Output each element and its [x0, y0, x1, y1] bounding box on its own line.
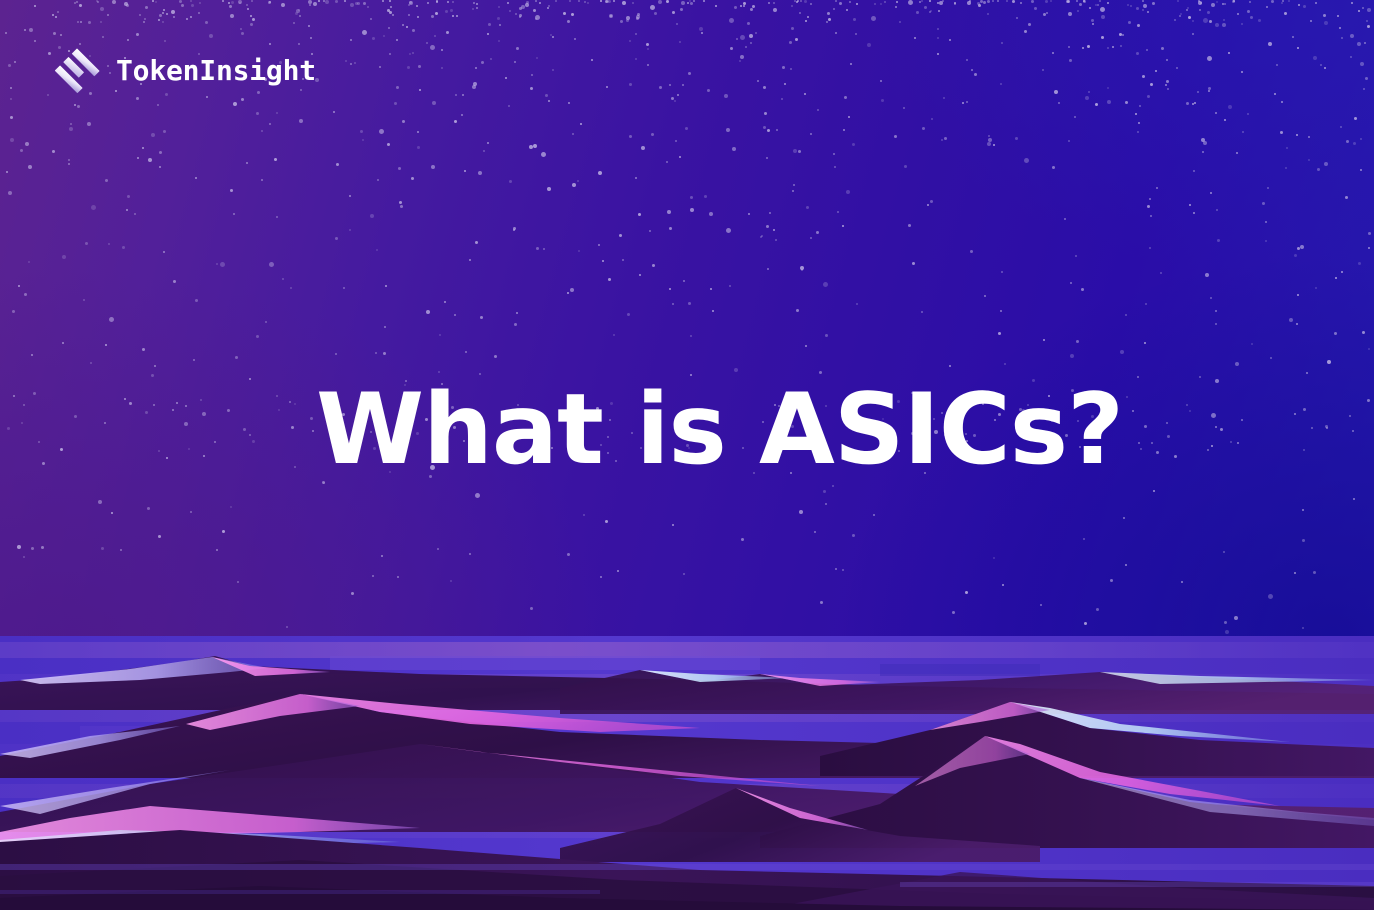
star-dot: [908, 224, 911, 227]
star-dot: [1167, 88, 1169, 90]
star-dot: [454, 314, 456, 316]
star-dot: [769, 212, 771, 214]
star-dot: [1150, 215, 1152, 217]
star-dot: [1084, 622, 1087, 625]
star-dot: [773, 2, 775, 4]
star-dot: [828, 18, 831, 21]
star-dot: [682, 84, 684, 86]
star-dot: [439, 334, 441, 336]
star-dot: [1096, 608, 1099, 611]
star-dot: [31, 354, 33, 356]
star-dot: [1099, 0, 1101, 2]
star-dot: [227, 409, 230, 412]
star-dot: [804, 93, 806, 95]
star-dot: [24, 29, 26, 31]
star-dot: [763, 126, 766, 129]
star-dot: [455, 94, 457, 96]
star-dot: [987, 13, 989, 15]
star-dot: [144, 18, 146, 20]
star-dot: [478, 171, 482, 175]
star-dot: [163, 9, 165, 11]
star-dot: [104, 422, 106, 424]
star-dot: [216, 263, 218, 265]
star-dot: [274, 158, 277, 161]
star-dot: [792, 190, 794, 192]
star-dot: [672, 524, 674, 526]
star-dot: [172, 409, 174, 411]
star-dot: [214, 441, 216, 443]
star-dot: [1281, 2, 1283, 4]
star-dot: [48, 52, 51, 55]
star-dot: [814, 531, 816, 533]
star-dot: [1350, 56, 1352, 58]
star-dot: [629, 83, 632, 86]
star-dot: [432, 101, 436, 105]
star-dot: [315, 78, 319, 82]
star-dot: [584, 1, 586, 3]
star-dot: [370, 214, 374, 218]
star-dot: [343, 287, 345, 289]
star-dot: [570, 288, 574, 292]
star-dot: [390, 6, 392, 8]
star-dot: [598, 244, 600, 246]
star-dot: [372, 37, 375, 40]
star-dot: [476, 7, 478, 9]
star-dot: [1228, 105, 1232, 109]
star-dot: [1235, 362, 1239, 366]
star-dot: [142, 147, 144, 149]
star-dot: [456, 15, 458, 17]
star-dot: [88, 21, 91, 24]
star-dot: [426, 310, 430, 314]
star-dot: [1289, 318, 1293, 322]
star-dot: [186, 18, 188, 20]
star-dot: [916, 11, 919, 14]
star-dot: [1142, 75, 1145, 78]
star-dot: [1066, 0, 1069, 3]
star-dot: [437, 548, 439, 550]
star-dot: [136, 97, 139, 100]
star-dot: [1215, 23, 1219, 27]
star-dot: [1247, 10, 1250, 13]
star-dot: [1302, 509, 1304, 511]
star-dot: [276, 216, 278, 218]
star-dot: [1107, 87, 1109, 89]
star-dot: [699, 27, 703, 31]
star-dot: [367, 6, 369, 8]
star-dot: [1050, 0, 1052, 2]
star-dot: [965, 591, 968, 594]
star-dot: [148, 158, 152, 162]
star-dot: [1303, 5, 1306, 8]
star-dot: [535, 15, 540, 20]
star-dot: [497, 17, 500, 20]
cover-image: TokenInsight What is ASICs?: [0, 0, 1374, 910]
star-dot: [531, 74, 533, 76]
star-dot: [1136, 7, 1139, 10]
star-dot: [767, 268, 769, 270]
star-dot: [750, 42, 752, 44]
star-dot: [1210, 192, 1212, 194]
star-dot: [1198, 1, 1202, 5]
star-dot: [1077, 10, 1079, 12]
star-dot: [810, 237, 812, 239]
star-dot: [629, 135, 632, 138]
star-dot: [1165, 84, 1167, 86]
star-dot: [826, 21, 828, 23]
star-dot: [53, 32, 56, 35]
star-dot: [791, 5, 793, 7]
star-dot: [235, 356, 238, 359]
star-dot: [20, 149, 23, 152]
star-dot: [798, 150, 801, 153]
star-dot: [647, 64, 649, 66]
star-dot: [1303, 408, 1306, 411]
star-dot: [1211, 413, 1216, 418]
star-dot: [1000, 83, 1002, 85]
star-dot: [1180, 13, 1182, 15]
star-dot: [515, 13, 517, 15]
star-dot: [153, 404, 155, 406]
star-dot: [1068, 46, 1070, 48]
star-dot: [1199, 9, 1201, 11]
star-dot: [185, 405, 187, 407]
star-dot: [250, 23, 253, 26]
star-dot: [639, 274, 641, 276]
star-dot: [269, 123, 271, 125]
star-dot: [1234, 616, 1238, 620]
star-dot: [83, 299, 85, 301]
star-dot: [396, 39, 398, 41]
star-dot: [871, 16, 876, 21]
star-dot: [1189, 410, 1191, 412]
star-dot: [666, 0, 669, 3]
star-dot: [804, 0, 807, 3]
star-dot: [1000, 310, 1002, 312]
star-dot: [1266, 6, 1268, 8]
star-dot: [1001, 271, 1003, 273]
star-dot: [1241, 419, 1243, 421]
star-dot: [679, 156, 681, 158]
star-dot: [1228, 52, 1230, 54]
star-dot: [1362, 7, 1364, 9]
star-dot: [112, 0, 116, 4]
star-dot: [396, 86, 399, 89]
star-dot: [383, 352, 386, 355]
star-dot: [1222, 3, 1224, 5]
star-dot: [389, 0, 391, 2]
star-dot: [569, 0, 571, 2]
star-dot: [68, 159, 70, 161]
star-dot: [791, 27, 794, 30]
star-dot: [1349, 415, 1351, 417]
star-dot: [345, 60, 347, 62]
star-dot: [10, 116, 13, 119]
star-dot: [1306, 372, 1308, 374]
star-dot: [508, 105, 510, 107]
star-dot: [1276, 64, 1278, 66]
star-dot: [419, 89, 421, 91]
star-dot: [927, 204, 929, 206]
star-dot: [839, 2, 842, 5]
star-dot: [454, 120, 457, 123]
star-dot: [736, 38, 738, 40]
star-dot: [1241, 23, 1243, 25]
star-dot: [1100, 7, 1105, 12]
star-dot: [651, 133, 654, 136]
star-dot: [984, 295, 986, 297]
star-dot: [908, 0, 913, 5]
star-dot: [447, 1, 449, 3]
star-dot: [941, 139, 943, 141]
star-dot: [462, 94, 464, 96]
star-dot: [195, 299, 198, 302]
star-dot: [1142, 9, 1144, 11]
star-dot: [166, 13, 168, 15]
star-dot: [683, 573, 685, 575]
star-dot: [325, 0, 329, 4]
star-dot: [1052, 166, 1055, 169]
star-dot: [100, 7, 104, 11]
star-dot: [1308, 159, 1310, 161]
star-dot: [635, 177, 637, 179]
star-dot: [469, 553, 471, 555]
star-dot: [464, 170, 466, 172]
star-dot: [298, 43, 300, 45]
star-dot: [278, 409, 280, 411]
star-dot: [354, 62, 356, 64]
star-dot: [349, 229, 351, 231]
star-dot: [1297, 247, 1300, 250]
star-dot: [602, 260, 604, 262]
star-dot: [452, 1, 454, 3]
star-dot: [1247, 113, 1249, 115]
star-dot: [677, 94, 679, 96]
star-dot: [823, 490, 826, 493]
star-dot: [1127, 4, 1129, 6]
star-dot: [896, 1, 898, 3]
star-dot: [57, 11, 59, 13]
star-dot: [667, 210, 671, 214]
star-dot: [229, 5, 232, 8]
star-dot: [222, 0, 224, 2]
star-dot: [162, 12, 164, 14]
star-dot: [880, 80, 882, 82]
star-dot: [377, 179, 379, 181]
star-dot: [600, 0, 602, 2]
star-dot: [675, 140, 677, 142]
star-dot: [90, 362, 92, 364]
star-dot: [514, 61, 516, 63]
star-dot: [881, 99, 884, 102]
star-dot: [109, 317, 114, 322]
star-dot: [843, 129, 845, 131]
star-dot: [1012, 0, 1015, 3]
star-dot: [430, 45, 435, 50]
star-dot: [1058, 102, 1060, 104]
star-dot: [1160, 272, 1162, 274]
star-dot: [1147, 11, 1149, 13]
star-dot: [80, 21, 82, 23]
star-dot: [929, 0, 931, 2]
star-dot: [608, 278, 611, 281]
star-dot: [1315, 287, 1317, 289]
star-dot: [7, 427, 10, 430]
star-dot: [724, 94, 728, 98]
star-dot: [42, 462, 45, 465]
star-dot: [1315, 2, 1317, 4]
star-dot: [583, 514, 585, 516]
star-dot: [709, 212, 713, 216]
star-dot: [394, 102, 397, 105]
star-dot: [1215, 379, 1219, 383]
star-dot: [748, 213, 750, 215]
star-dot: [613, 0, 615, 2]
star-dot: [1341, 271, 1343, 273]
star-dot: [715, 5, 717, 7]
star-dot: [591, 59, 593, 61]
star-dot: [412, 29, 415, 32]
star-dot: [1101, 15, 1105, 19]
star-dot: [1082, 47, 1084, 49]
star-dot: [188, 448, 190, 450]
star-dot: [34, 5, 36, 7]
star-dot: [767, 129, 770, 132]
star-dot: [195, 177, 197, 179]
star-dot: [190, 0, 192, 2]
star-dot: [1286, 147, 1288, 149]
star-dot: [294, 466, 296, 468]
star-dot: [143, 21, 145, 23]
star-dot: [417, 131, 419, 133]
star-dot: [1083, 0, 1086, 3]
star-dot: [407, 66, 410, 69]
star-dot: [1280, 131, 1283, 134]
star-dot: [800, 266, 804, 270]
star-dot: [1015, 137, 1018, 140]
star-dot: [1363, 88, 1365, 90]
star-dot: [710, 288, 712, 290]
star-dot: [336, 163, 339, 166]
star-dot: [296, 9, 300, 13]
star-dot: [1147, 205, 1150, 208]
star-dot: [703, 0, 705, 2]
star-dot: [536, 57, 538, 59]
star-dot: [712, 310, 714, 312]
star-dot: [122, 246, 125, 249]
star-dot: [62, 342, 64, 344]
star-dot: [1125, 314, 1127, 316]
star-dot: [472, 8, 474, 10]
star-dot: [1317, 168, 1320, 171]
star-dot: [333, 111, 335, 113]
star-dot: [974, 73, 977, 76]
star-dot: [547, 7, 549, 9]
star-dot: [1224, 621, 1227, 624]
star-dot: [793, 149, 797, 153]
star-dot: [1192, 33, 1194, 35]
star-dot: [193, 359, 195, 361]
star-dot: [619, 234, 622, 237]
star-dot: [1024, 30, 1027, 33]
star-dot: [567, 553, 570, 556]
star-dot: [1367, 399, 1370, 402]
star-dot: [372, 575, 374, 577]
star-dot: [107, 14, 109, 16]
star-dot: [671, 97, 674, 100]
star-dot: [1155, 70, 1157, 72]
star-dot: [475, 493, 480, 498]
star-dot: [145, 6, 148, 9]
star-dot: [1046, 12, 1048, 14]
star-dot: [1268, 594, 1273, 599]
star-dot: [966, 59, 968, 61]
star-dot: [397, 576, 399, 578]
star-dot: [1302, 539, 1305, 542]
brand-logo[interactable]: TokenInsight: [52, 46, 316, 96]
star-dot: [60, 448, 63, 451]
star-dot: [1268, 42, 1272, 46]
star-dot: [1251, 343, 1253, 345]
star-dot: [1137, 131, 1139, 133]
star-dot: [1028, 23, 1031, 26]
star-dot: [1107, 100, 1111, 104]
star-dot: [1320, 64, 1322, 66]
star-dot: [1313, 571, 1316, 574]
star-dot: [28, 165, 32, 169]
star-dot: [627, 313, 630, 316]
star-dot: [363, 2, 366, 5]
star-dot: [418, 65, 421, 68]
star-dot: [1367, 8, 1371, 12]
star-dot: [1360, 138, 1362, 140]
star-dot: [1360, 62, 1364, 66]
star-dot: [388, 27, 390, 29]
star-dot: [190, 16, 192, 18]
star-dot: [370, 18, 372, 20]
star-dot: [1188, 16, 1191, 19]
star-dot: [14, 61, 16, 63]
star-dot: [1323, 14, 1326, 17]
star-dot: [525, 3, 529, 7]
star-dot: [874, 3, 876, 5]
star-dot: [734, 368, 738, 372]
star-dot: [807, 16, 809, 18]
star-dot: [726, 228, 731, 233]
star-dot: [1296, 323, 1298, 325]
star-dot: [17, 545, 21, 549]
star-dot: [1054, 90, 1058, 94]
star-dot: [617, 570, 619, 572]
star-dot: [685, 127, 688, 130]
star-dot: [1161, 47, 1164, 50]
star-dot: [1123, 517, 1125, 519]
star-dot: [203, 455, 205, 457]
star-dot: [100, 21, 102, 23]
star-dot: [55, 16, 57, 18]
star-dot: [1167, 435, 1170, 438]
star-dot: [360, 130, 363, 133]
star-dot: [190, 511, 192, 513]
star-dot: [472, 85, 476, 89]
star-dot: [884, 1, 886, 3]
star-dot: [747, 22, 750, 25]
star-dot: [426, 42, 428, 44]
star-dot: [1097, 4, 1099, 6]
star-dot: [635, 33, 637, 35]
star-dot: [856, 3, 858, 5]
star-dot: [256, 112, 259, 115]
